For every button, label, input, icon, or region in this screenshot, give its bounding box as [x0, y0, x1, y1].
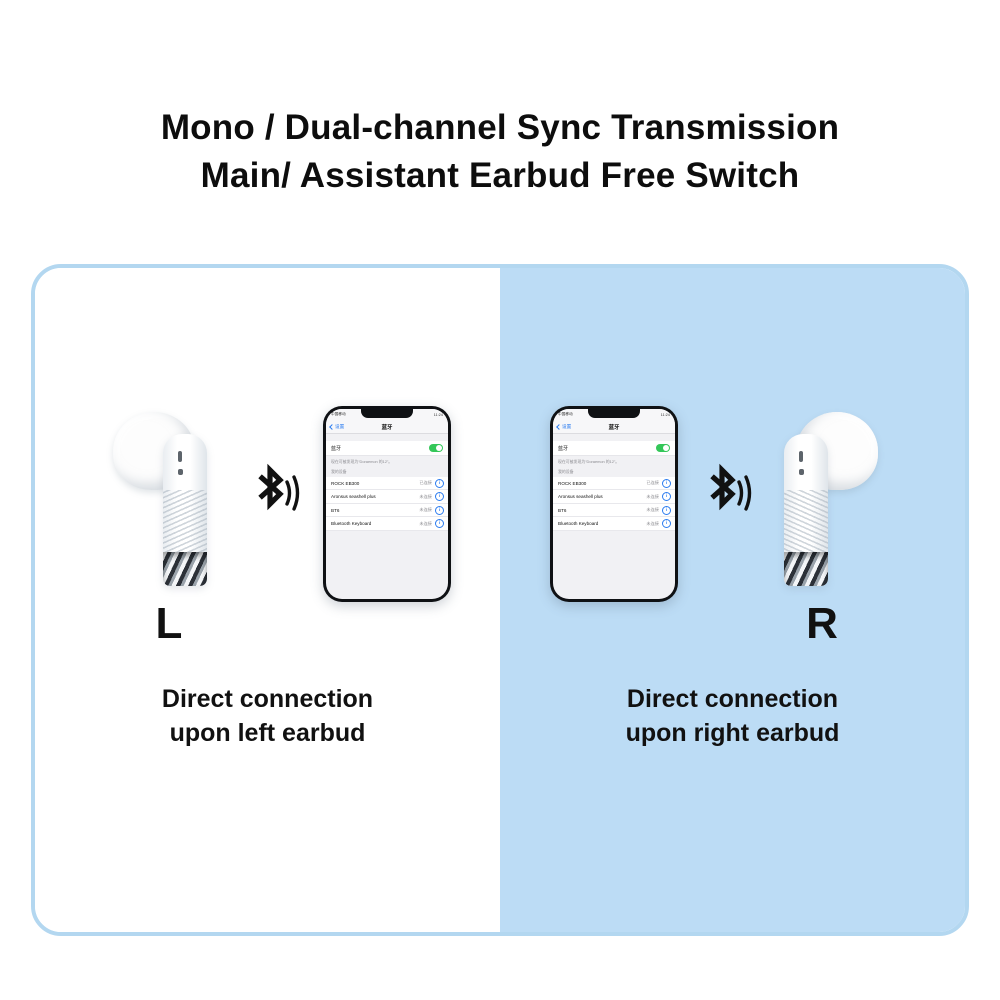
device-state: 未连接 [419, 507, 432, 513]
earbud-microphone-hole [178, 469, 183, 475]
info-icon[interactable]: i [435, 506, 444, 515]
navigation-bar: 设置 蓝牙 [326, 420, 448, 434]
my-devices-header: 我的设备 [326, 466, 448, 477]
title-line-2: Main/ Assistant Earbud Free Switch [0, 152, 1000, 200]
phone-notch [588, 409, 640, 418]
bluetooth-toggle-row[interactable]: 蓝牙 [326, 441, 448, 456]
left-caption-line-2: upon left earbud [35, 716, 500, 750]
right-phone-mockup: 中国移动 11:24 设置 蓝牙 蓝牙 [550, 406, 678, 602]
info-icon[interactable]: i [435, 519, 444, 528]
info-icon[interactable]: i [662, 506, 671, 515]
bluetooth-icon [248, 462, 302, 524]
earbud-stem [163, 434, 207, 586]
bluetooth-toggle-switch[interactable] [429, 444, 443, 452]
right-caption-line-2: upon right earbud [500, 716, 965, 750]
discoverable-note-line: 现在可被发现为“Doraemon 的12”。 [558, 459, 670, 464]
page-title: Mono / Dual-channel Sync Transmission Ma… [0, 104, 1000, 200]
info-icon[interactable]: i [435, 479, 444, 488]
bluetooth-toggle-switch[interactable] [656, 444, 670, 452]
bluetooth-toggle-row[interactable]: 蓝牙 [553, 441, 675, 456]
title-line-1: Mono / Dual-channel Sync Transmission [0, 104, 1000, 152]
device-row[interactable]: ROCK EB300 已连接 i [326, 477, 448, 491]
device-row[interactable]: Bluetooth Keyboard 未连接 i [326, 517, 448, 531]
navigation-bar: 设置 蓝牙 [553, 420, 675, 434]
earbud-led-indicator [799, 451, 803, 462]
device-state: 未连接 [419, 521, 432, 527]
right-earbud-label: R [766, 602, 878, 646]
device-state: 未连接 [646, 494, 659, 500]
discoverable-note: 现在可被发现为“Doraemon 的12”。 [553, 456, 675, 466]
right-earbud: R [766, 410, 878, 600]
left-earbud: L [113, 410, 225, 600]
info-icon[interactable]: i [662, 492, 671, 501]
info-icon[interactable]: i [662, 519, 671, 528]
device-state: 未连接 [646, 507, 659, 513]
phone-notch [361, 409, 413, 418]
infographic-page: Mono / Dual-channel Sync Transmission Ma… [0, 0, 1000, 1000]
device-name: Aronsus seashell plus [331, 494, 416, 499]
discoverable-note-line: 现在可被发现为“Doraemon 的12”。 [331, 459, 443, 464]
discoverable-note: 现在可被发现为“Doraemon 的12”。 [326, 456, 448, 466]
status-bar-carrier: 中国移动 [558, 412, 573, 417]
device-name: Bluetooth Keyboard [331, 521, 416, 526]
device-state: 未连接 [646, 521, 659, 527]
device-state: 已连接 [646, 480, 659, 486]
left-caption: Direct connection upon left earbud [35, 682, 500, 750]
device-row[interactable]: Bluetooth Keyboard 未连接 i [553, 517, 675, 531]
comparison-card: L 中国移动 11:24 [31, 264, 969, 936]
earbud-charging-contact [163, 552, 207, 586]
my-devices-header: 我的设备 [553, 466, 675, 477]
status-bar-carrier: 中国移动 [331, 412, 346, 417]
earbud-microphone-hole [799, 469, 804, 475]
info-icon[interactable]: i [435, 492, 444, 501]
status-bar-time: 11:24 [661, 413, 670, 417]
device-state: 未连接 [419, 494, 432, 500]
device-state: 已连接 [419, 480, 432, 486]
nav-title: 蓝牙 [326, 423, 448, 431]
section-gap [553, 434, 675, 441]
right-scene-row: 中国移动 11:24 设置 蓝牙 蓝牙 [500, 400, 965, 650]
left-scene-row: L 中国移动 11:24 [35, 400, 500, 650]
device-row[interactable]: BT6 未连接 i [553, 504, 675, 518]
phone-screen: 中国移动 11:24 设置 蓝牙 蓝牙 [326, 409, 448, 599]
left-phone-mockup: 中国移动 11:24 设置 蓝牙 蓝牙 [323, 406, 451, 602]
device-row[interactable]: Aronsus seashell plus 未连接 i [326, 490, 448, 504]
device-name: Bluetooth Keyboard [558, 521, 643, 526]
section-gap [326, 434, 448, 441]
device-name: ROCK EB300 [331, 481, 416, 486]
status-bar-time: 11:24 [434, 413, 443, 417]
bluetooth-row-label: 蓝牙 [558, 445, 656, 452]
nav-title: 蓝牙 [553, 423, 675, 431]
left-caption-line-1: Direct connection [35, 682, 500, 716]
bluetooth-row-label: 蓝牙 [331, 445, 429, 452]
right-scene: 中国移动 11:24 设置 蓝牙 蓝牙 [500, 268, 965, 932]
device-name: Aronsus seashell plus [558, 494, 643, 499]
device-name: BT6 [558, 508, 643, 513]
phone-screen: 中国移动 11:24 设置 蓝牙 蓝牙 [553, 409, 675, 599]
device-row[interactable]: ROCK EB300 已连接 i [553, 477, 675, 491]
device-row[interactable]: BT6 未连接 i [326, 504, 448, 518]
earbud-led-indicator [178, 451, 182, 462]
right-caption: Direct connection upon right earbud [500, 682, 965, 750]
earbud-stem [784, 434, 828, 586]
left-earbud-label: L [113, 602, 225, 646]
bluetooth-icon [700, 462, 754, 524]
device-name: ROCK EB300 [558, 481, 643, 486]
device-row[interactable]: Aronsus seashell plus 未连接 i [553, 490, 675, 504]
left-scene: L 中国移动 11:24 [35, 268, 500, 932]
device-name: BT6 [331, 508, 416, 513]
earbud-charging-contact [784, 552, 828, 586]
info-icon[interactable]: i [662, 479, 671, 488]
right-caption-line-1: Direct connection [500, 682, 965, 716]
